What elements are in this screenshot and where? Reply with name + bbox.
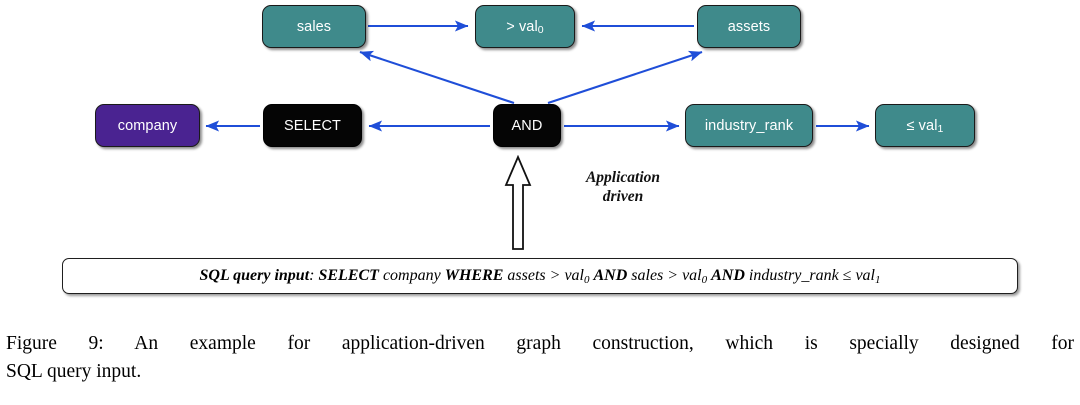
node-le-val1-subscript: 1 bbox=[938, 123, 944, 135]
sql-op-le: ≤ val bbox=[843, 267, 875, 284]
sql-column-industry-rank: industry_rank bbox=[749, 267, 839, 284]
sql-keyword-and-1: AND bbox=[593, 267, 627, 284]
sql-op-gt-1: > val bbox=[550, 267, 584, 284]
sql-prefix-label: SQL query input bbox=[200, 267, 310, 284]
node-select-label: SELECT bbox=[284, 118, 341, 134]
sql-query-input-box[interactable]: SQL query input: SELECT company WHERE as… bbox=[62, 258, 1018, 294]
application-driven-up-arrow-icon bbox=[503, 155, 533, 251]
figure-caption: Figure 9: An example for application-dri… bbox=[6, 330, 1074, 386]
sql-keyword-select: SELECT bbox=[318, 267, 378, 284]
node-sales-label: sales bbox=[297, 19, 331, 35]
node-assets-label: assets bbox=[728, 19, 771, 35]
node-company[interactable]: company bbox=[95, 104, 200, 147]
node-industry-rank-label: industry_rank bbox=[705, 118, 793, 134]
sql-sub-1: 1 bbox=[875, 274, 881, 286]
sql-keyword-where: WHERE bbox=[445, 267, 504, 284]
sql-keyword-and-2: AND bbox=[711, 267, 745, 284]
sql-query-text: SQL query input: SELECT company WHERE as… bbox=[200, 267, 881, 285]
node-gt-val0[interactable]: > val0 bbox=[475, 5, 575, 48]
caption-line-2: SQL query input. bbox=[6, 358, 1074, 386]
figure-container: sales > val0 assets company SELECT AND i… bbox=[0, 0, 1080, 405]
sql-column-assets: assets bbox=[507, 267, 545, 284]
node-gt-val0-label: > val bbox=[506, 19, 538, 35]
node-le-val1[interactable]: ≤ val1 bbox=[875, 104, 975, 147]
edge-and-to-sales bbox=[360, 52, 514, 103]
sql-sub-0-b: 0 bbox=[702, 274, 708, 286]
app-driven-line2: driven bbox=[603, 188, 643, 205]
node-gt-val0-subscript: 0 bbox=[538, 24, 544, 36]
app-driven-line1: Application bbox=[586, 169, 660, 186]
node-le-val1-label: ≤ val bbox=[907, 118, 938, 134]
node-and[interactable]: AND bbox=[493, 104, 561, 147]
sql-sub-0-a: 0 bbox=[584, 274, 590, 286]
node-company-label: company bbox=[118, 118, 178, 134]
caption-line-1: Figure 9: An example for application-dri… bbox=[6, 330, 1074, 358]
graph-diagram: sales > val0 assets company SELECT AND i… bbox=[0, 0, 1080, 250]
edge-and-to-assets bbox=[548, 52, 702, 103]
node-select[interactable]: SELECT bbox=[263, 104, 362, 147]
node-assets[interactable]: assets bbox=[697, 5, 801, 48]
node-sales[interactable]: sales bbox=[262, 5, 366, 48]
node-and-label: AND bbox=[512, 118, 543, 134]
sql-column-company: company bbox=[383, 267, 441, 284]
node-industry-rank[interactable]: industry_rank bbox=[685, 104, 813, 147]
application-driven-label: Application driven bbox=[548, 168, 698, 206]
sql-column-sales: sales bbox=[631, 267, 663, 284]
sql-op-gt-2: > val bbox=[667, 267, 701, 284]
